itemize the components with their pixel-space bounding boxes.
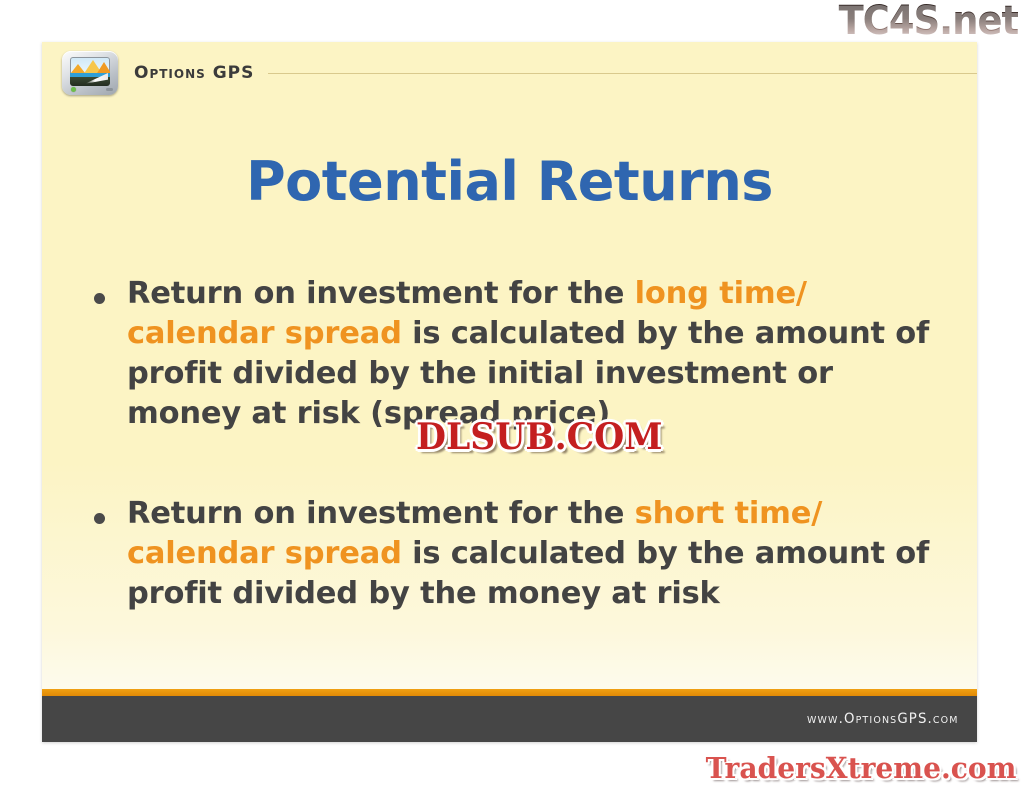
bullet-segment-plain: Return on investment for the <box>127 496 635 531</box>
footer-accent-bar <box>42 689 977 696</box>
bullet-text: Return on investment for the short time/… <box>127 494 957 614</box>
brand-name: Options GPS <box>134 63 254 83</box>
list-item: Return on investment for the long time/ … <box>70 274 957 434</box>
device-button <box>106 88 113 91</box>
bullet-segment-plain: Return on investment for the <box>127 276 635 311</box>
list-item: Return on investment for the short time/… <box>70 494 957 614</box>
gps-device-screen <box>70 57 110 86</box>
bullet-dot-icon <box>94 513 105 524</box>
tradersxtreme-watermark: TradersXtreme.com <box>705 751 1016 785</box>
bullet-dot-icon <box>94 293 105 304</box>
presentation-slide: Options GPS Potential Returns Return on … <box>42 42 977 742</box>
slide-header: Options GPS <box>42 42 977 104</box>
page-title: Potential Returns <box>42 150 977 213</box>
tc4s-watermark: TC4S.net <box>838 0 1018 44</box>
dlsub-watermark: DLSUB.COM <box>416 416 662 458</box>
gps-device-icon <box>62 51 118 95</box>
footer-website-url: www.OptionsGPS.com <box>807 711 959 727</box>
slide-footer: www.OptionsGPS.com <box>42 696 977 742</box>
power-led-icon <box>71 87 76 92</box>
header-divider <box>268 73 977 74</box>
bullet-text: Return on investment for the long time/ … <box>127 274 957 434</box>
